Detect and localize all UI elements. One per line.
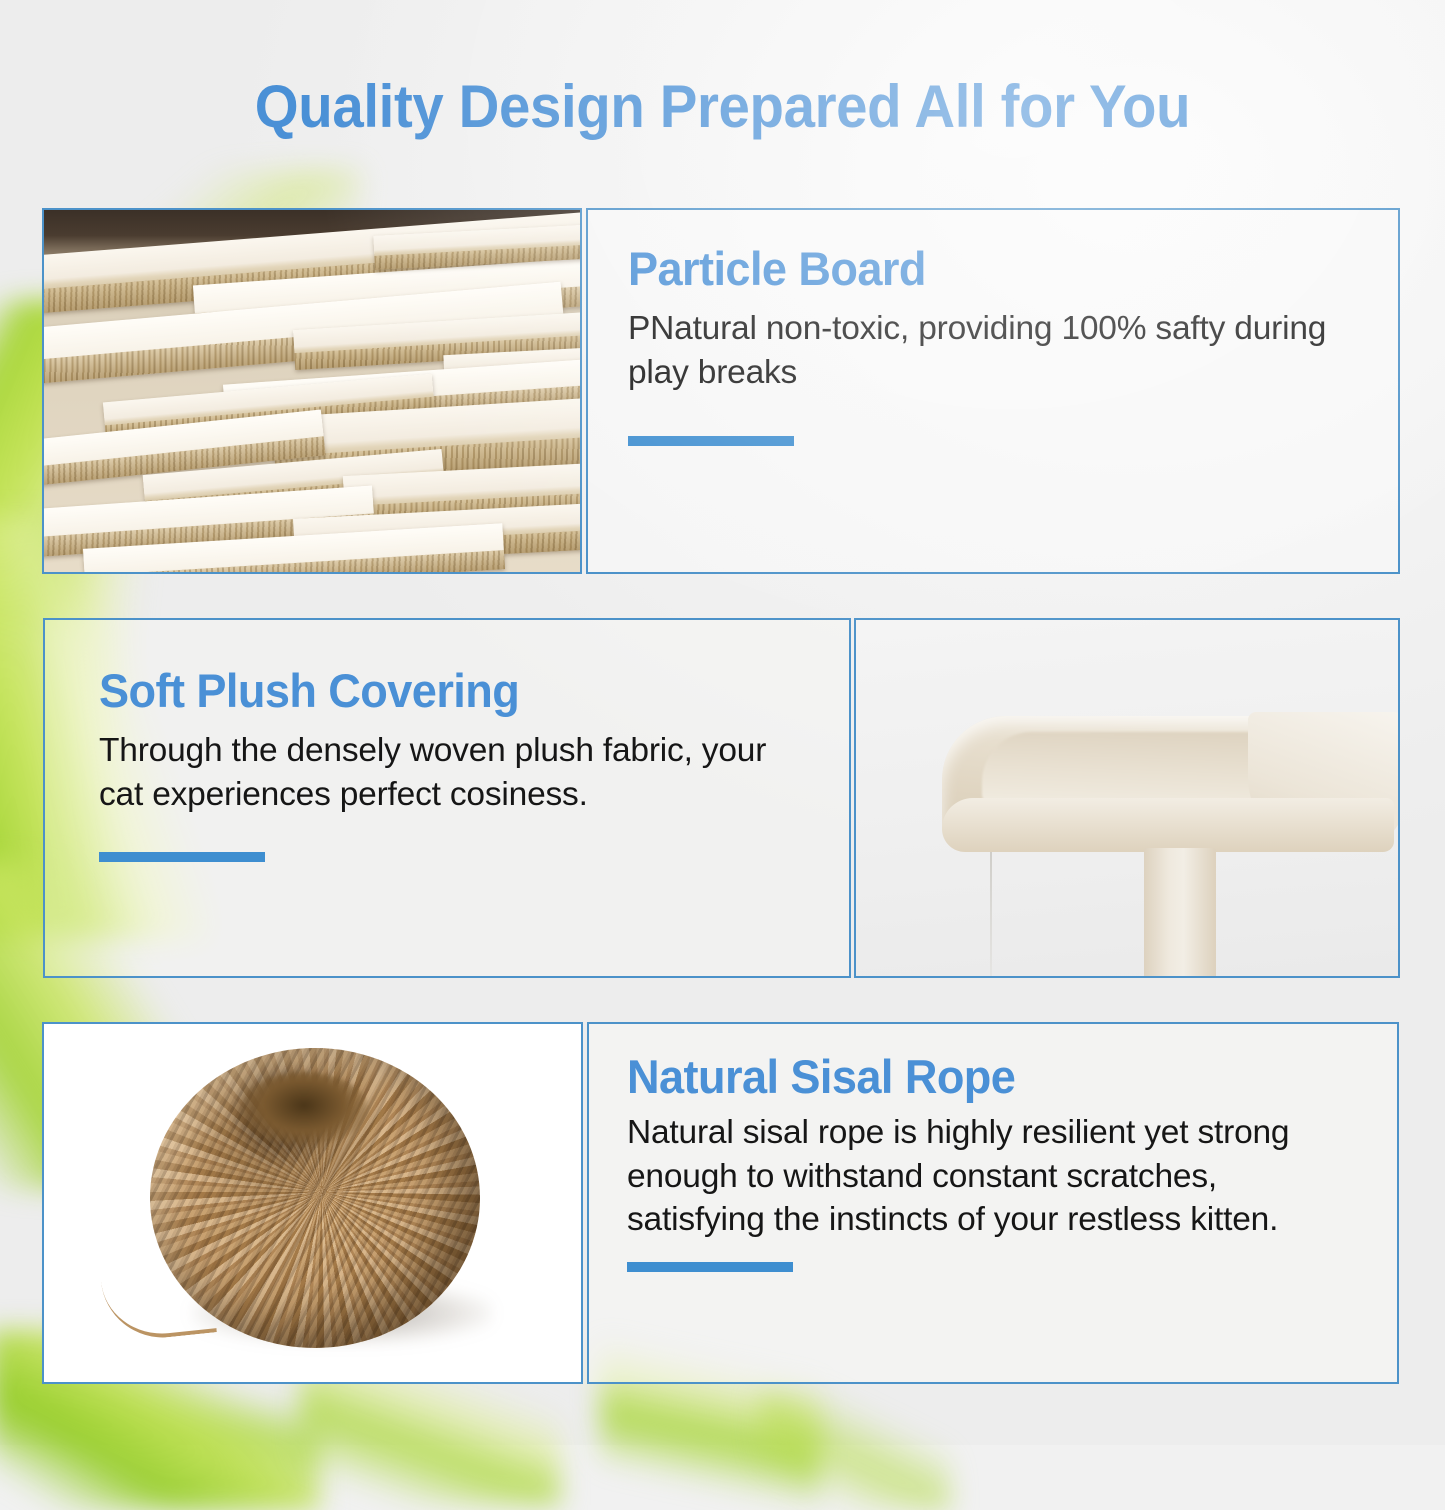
card-body: PNatural non-toxic, providing 100% safty… bbox=[628, 307, 1356, 394]
particle-board-text-panel: Particle Board PNatural non-toxic, provi… bbox=[586, 208, 1400, 574]
accent-bar bbox=[627, 1262, 793, 1272]
sisal-rope-text-panel: Natural Sisal Rope Natural sisal rope is… bbox=[587, 1022, 1399, 1384]
hanging-string bbox=[990, 834, 992, 978]
accent-bar bbox=[99, 852, 265, 862]
card-copy: Natural Sisal Rope Natural sisal rope is… bbox=[589, 1024, 1397, 1272]
feature-card-natural-sisal-rope: Natural Sisal Rope Natural sisal rope is… bbox=[42, 1022, 1402, 1384]
fern-leaf-icon bbox=[760, 1390, 950, 1510]
rope-ball-photo bbox=[44, 1024, 581, 1382]
card-body: Natural sisal rope is highly resilient y… bbox=[627, 1111, 1355, 1242]
soft-plush-text-panel: Soft Plush Covering Through the densely … bbox=[43, 618, 851, 978]
sisal-rope-image bbox=[42, 1022, 583, 1384]
particle-board-image bbox=[42, 208, 582, 574]
card-heading: Natural Sisal Rope bbox=[627, 1052, 1326, 1101]
perch-front-edge bbox=[942, 798, 1394, 852]
rope-loose-strand bbox=[101, 1270, 217, 1343]
card-body: Through the densely woven plush fabric, … bbox=[99, 729, 769, 816]
card-heading: Particle Board bbox=[628, 244, 1327, 293]
feature-card-particle-board: Particle Board PNatural non-toxic, provi… bbox=[42, 208, 1402, 574]
stacked-boards-photo bbox=[44, 210, 580, 572]
feature-card-soft-plush-covering: Soft Plush Covering Through the densely … bbox=[43, 618, 1402, 978]
page-title: Quality Design Prepared All for You bbox=[43, 72, 1401, 141]
perch-support-post bbox=[1144, 848, 1216, 978]
plush-perch-image bbox=[854, 618, 1400, 978]
card-heading: Soft Plush Covering bbox=[99, 666, 779, 715]
card-copy: Soft Plush Covering Through the densely … bbox=[45, 620, 849, 862]
cat-perch-photo bbox=[856, 620, 1398, 976]
card-copy: Particle Board PNatural non-toxic, provi… bbox=[588, 210, 1398, 446]
rope-ball-center-hole bbox=[240, 1072, 368, 1146]
accent-bar bbox=[628, 436, 794, 446]
infographic-canvas: Quality Design Prepared All for You bbox=[0, 0, 1445, 1445]
